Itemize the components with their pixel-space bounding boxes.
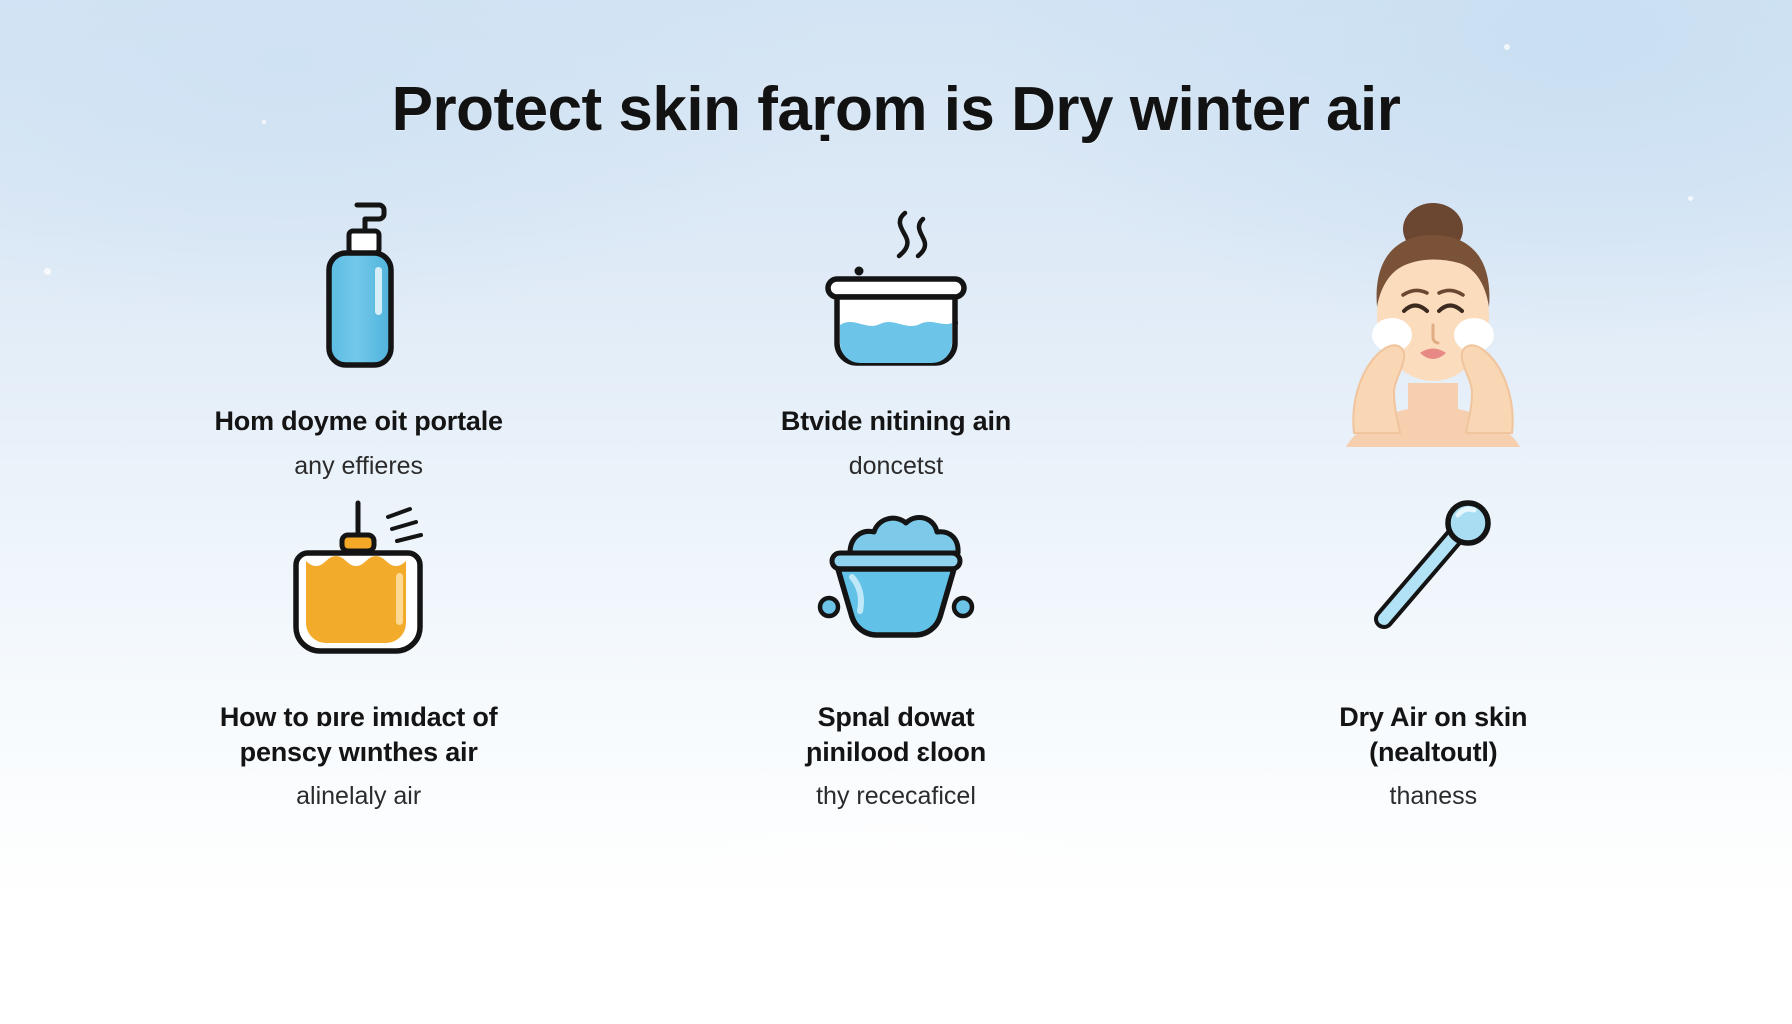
water-basin-icon — [796, 495, 996, 660]
tip-subtitle: doncetst — [849, 451, 944, 482]
tip-caption-line1: Dry Air on skin — [1339, 702, 1527, 732]
tip-card-lotion[interactable]: Hom doyme oit portale any effieres — [90, 195, 627, 495]
tip-subtitle: thy rececaficel — [816, 781, 976, 812]
tip-caption: How to ɒıre imıdact of penscy wınthes ai… — [220, 700, 498, 769]
woman-face-moisturizing-icon — [1308, 195, 1558, 470]
tip-subtitle: thaness — [1390, 781, 1478, 812]
tip-card-basin[interactable]: Spnal dowat ɲinilood ɛloon thy rececafic… — [627, 495, 1164, 815]
tip-caption-line1: How to ɒıre imıdact of — [220, 702, 498, 732]
lotion-pump-bottle-icon — [299, 195, 419, 380]
background-speck — [44, 268, 51, 275]
tip-card-face[interactable] — [1165, 195, 1702, 495]
tip-card-honey[interactable]: How to ɒıre imıdact of penscy wınthes ai… — [90, 495, 627, 815]
tip-caption: Dry Air on skin (nealtoutl) — [1339, 700, 1527, 769]
tip-caption-line1: Spnal dowat — [818, 702, 975, 732]
tip-caption-line2: (nealtoutl) — [1369, 737, 1497, 767]
tips-grid: Hom doyme oit portale any effieres Btvid… — [90, 195, 1702, 815]
tip-caption-line2: ɲinilood ɛloon — [806, 737, 986, 767]
background-speck — [1504, 44, 1510, 50]
honey-jar-icon — [266, 495, 451, 660]
tip-caption-line2: penscy wınthes air — [240, 737, 478, 767]
steaming-water-bowl-icon — [801, 195, 991, 380]
tip-subtitle: alinelaly air — [296, 781, 421, 812]
page-title: Protect skin faṛom is Dry winter air — [0, 74, 1792, 145]
dropper-applicator-icon — [1348, 495, 1518, 660]
tip-card-steam[interactable]: Btvide nitining ain doncetst — [627, 195, 1164, 495]
tip-caption: Btvide nitining ain — [781, 404, 1011, 439]
tip-subtitle: any effieres — [294, 451, 423, 482]
tip-card-dropper[interactable]: Dry Air on skin (nealtoutl) thaness — [1165, 495, 1702, 815]
tip-caption: Hom doyme oit portale — [214, 404, 502, 439]
tip-caption: Spnal dowat ɲinilood ɛloon — [806, 700, 986, 769]
